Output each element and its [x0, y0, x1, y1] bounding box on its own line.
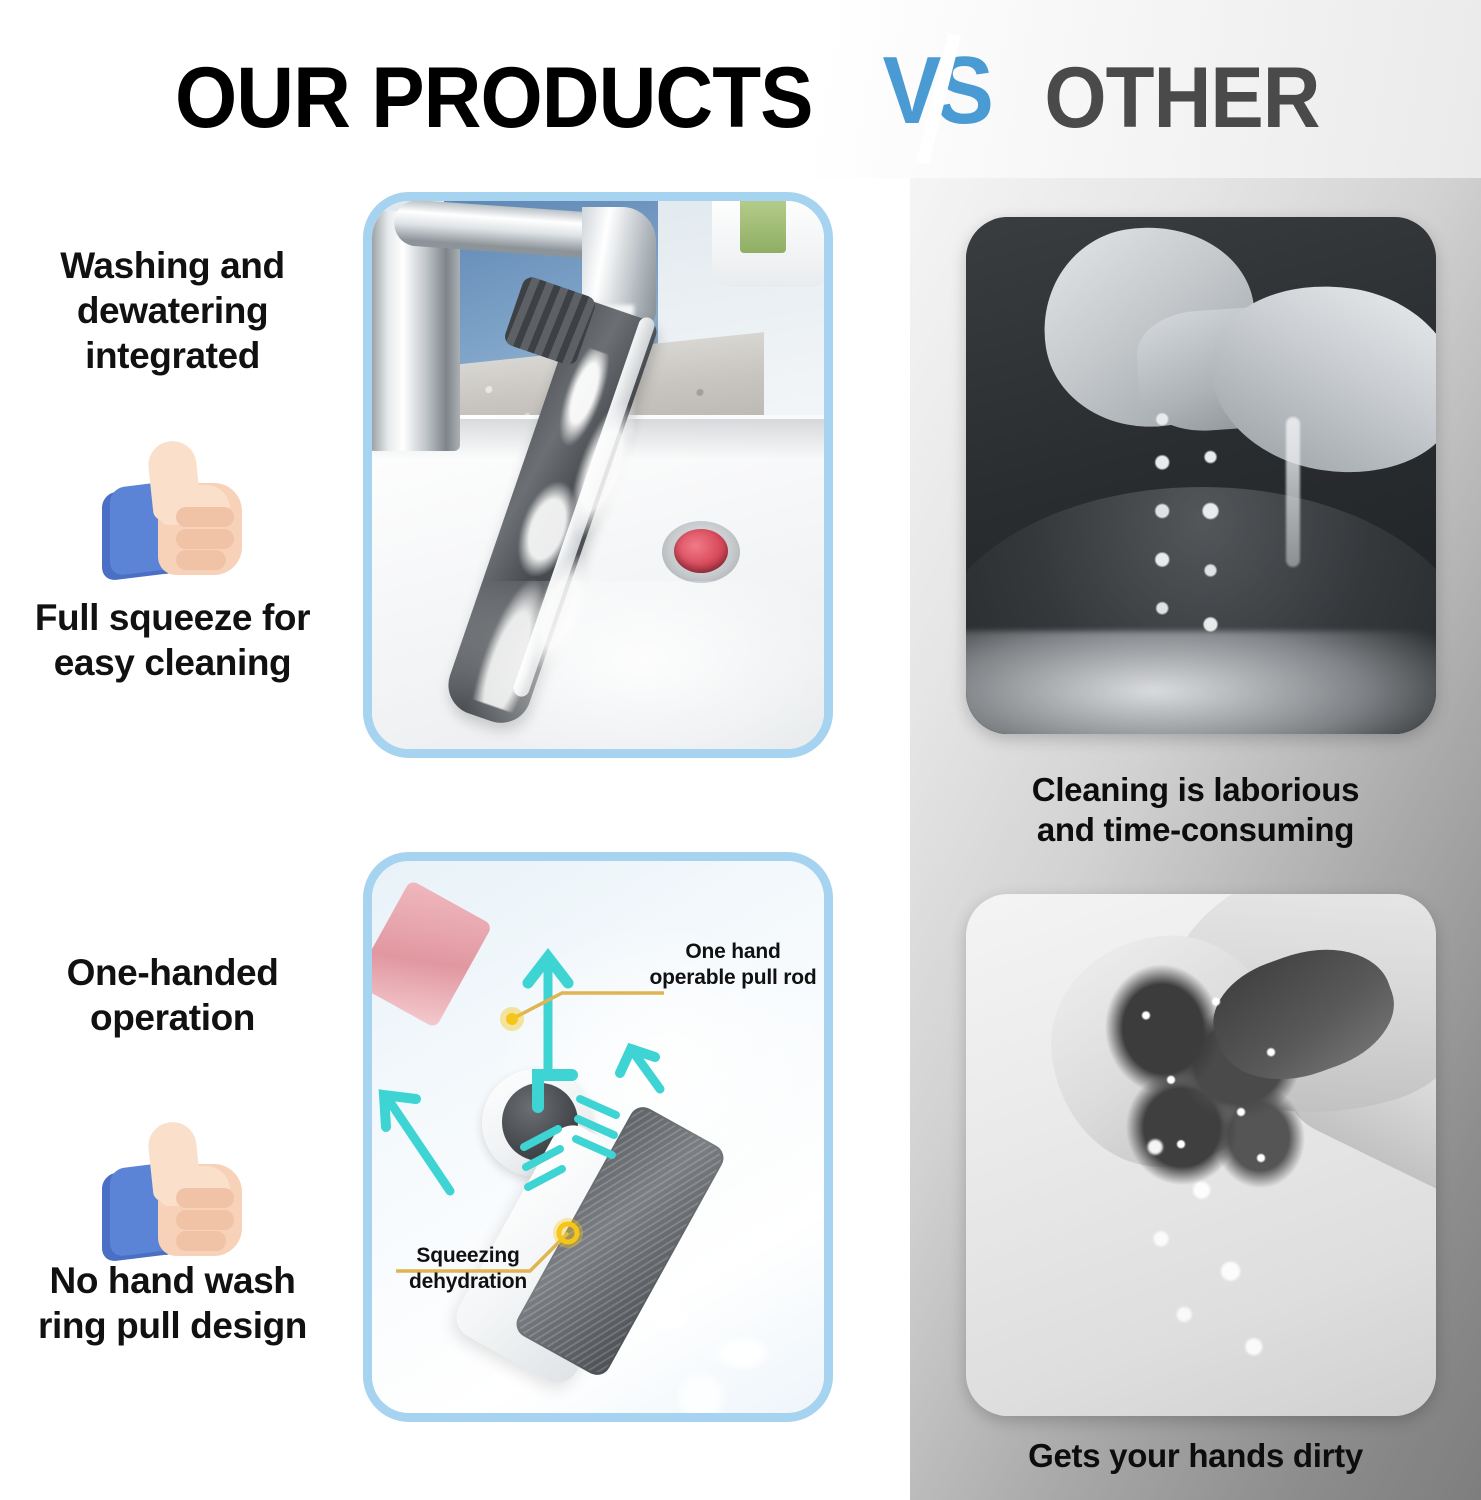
- header-title-row: OUR PRODUCTS VS OTHER: [0, 46, 1481, 150]
- thumbs-up-knuckle: [176, 1188, 234, 1208]
- feature-label-one-handed: One-handed operation: [0, 950, 345, 1040]
- down-arrow-left: [384, 1095, 450, 1191]
- water-sparkles: [1096, 974, 1346, 1204]
- other-products-panel: Cleaning is laborious and time-consuming…: [910, 178, 1481, 1500]
- callout-line: operable pull rod: [630, 965, 833, 991]
- other-photo-dirty-hands: [966, 894, 1436, 1416]
- thumbs-up-knuckle: [176, 550, 226, 570]
- toothbrush: [740, 195, 786, 253]
- product-photo-one-handed: One hand operable pull rod Squeezing deh…: [363, 852, 833, 1422]
- caption-laborious: Cleaning is laborious and time-consuming: [910, 770, 1481, 849]
- thumbs-up-knuckle: [176, 1210, 234, 1230]
- feature-line: operation: [0, 995, 345, 1040]
- water-splash: [600, 1265, 830, 1422]
- other-title: OTHER: [1045, 55, 1320, 141]
- callout-line: Squeezing: [386, 1243, 550, 1269]
- our-products-title: OUR PRODUCTS: [175, 55, 813, 141]
- feature-line: No hand wash: [0, 1258, 345, 1303]
- header-banner: OUR PRODUCTS VS OTHER: [0, 0, 1481, 178]
- vs-badge: VS: [860, 39, 1010, 157]
- sink-scene: [372, 201, 824, 749]
- feature-label-washing-dewatering: Washing and dewatering integrated: [0, 243, 345, 378]
- mop-rod-clip: [363, 880, 493, 1029]
- thumbs-up-knuckle: [176, 507, 234, 527]
- feature-label-full-squeeze: Full squeeze for easy cleaning: [0, 595, 345, 685]
- thumbs-up-icon: [100, 1118, 245, 1258]
- product-photo-washing: [363, 192, 833, 758]
- drain-stopper: [674, 529, 728, 573]
- callout-line: dehydration: [386, 1269, 550, 1295]
- callout-pull-rod: One hand operable pull rod: [630, 939, 833, 990]
- caption-line: Cleaning is laborious: [910, 770, 1481, 810]
- feature-label-no-hand-wash: No hand wash ring pull design: [0, 1258, 345, 1348]
- feature-line: integrated: [0, 333, 345, 378]
- thumbs-up-icon: [100, 437, 245, 577]
- thumbs-up-knuckle: [176, 1231, 226, 1251]
- feature-line: Washing and: [0, 243, 345, 288]
- mop-diagram-scene: One hand operable pull rod Squeezing deh…: [372, 861, 824, 1413]
- callout-squeezing-dehydration: Squeezing dehydration: [386, 1243, 550, 1294]
- caption-line: Gets your hands dirty: [910, 1436, 1481, 1476]
- feature-line: One-handed: [0, 950, 345, 995]
- thumbs-up-knuckle: [176, 529, 234, 549]
- caption-line: and time-consuming: [910, 810, 1481, 850]
- feature-line: dewatering: [0, 288, 345, 333]
- feature-line: easy cleaning: [0, 640, 345, 685]
- feature-line: ring pull design: [0, 1303, 345, 1348]
- sink-water-sheen: [432, 581, 833, 758]
- other-photo-laborious: [966, 217, 1436, 734]
- water-stream: [1286, 417, 1300, 567]
- mop-pull-rod-pink: [363, 852, 373, 1381]
- feature-line: Full squeeze for: [0, 595, 345, 640]
- callout-line: One hand: [630, 939, 833, 965]
- caption-dirty-hands: Gets your hands dirty: [910, 1436, 1481, 1476]
